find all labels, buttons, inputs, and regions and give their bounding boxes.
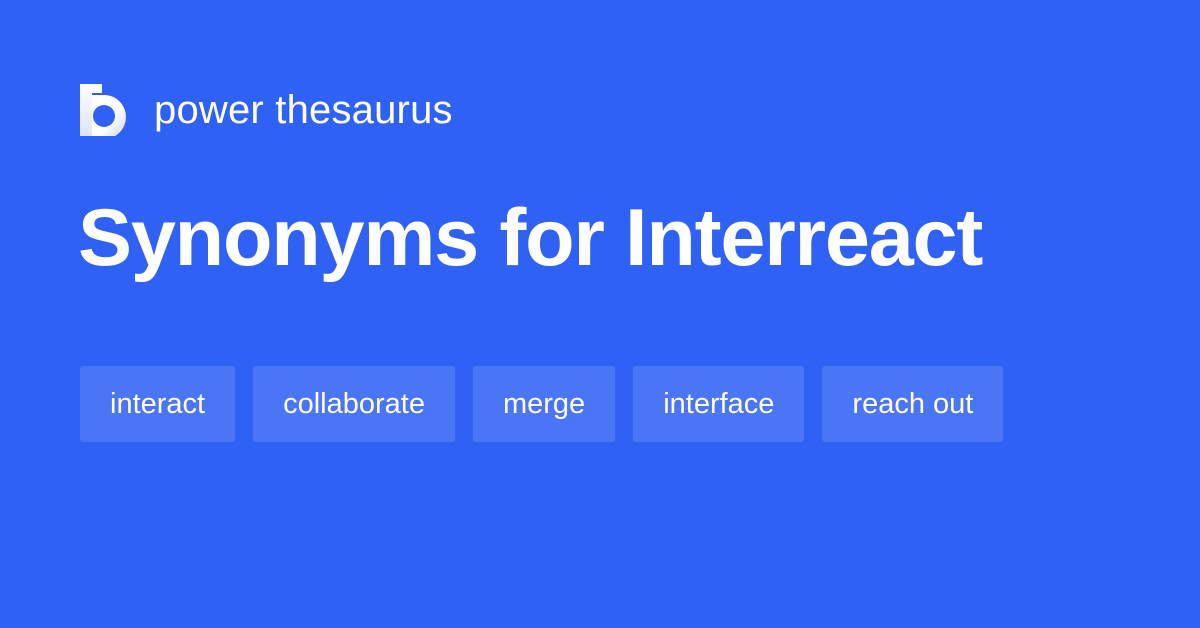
page-title: Synonyms for Interreact <box>78 196 1138 280</box>
power-thesaurus-b-logo-icon <box>80 84 126 136</box>
share-card: power thesaurus Synonyms for Interreact … <box>0 0 1200 628</box>
synonym-chip[interactable]: reach out <box>822 366 1003 442</box>
synonym-chip[interactable]: collaborate <box>253 366 455 442</box>
brand-lockup[interactable]: power thesaurus <box>80 82 453 138</box>
brand-name: power thesaurus <box>154 90 453 130</box>
synonym-chip-list: interact collaborate merge interface rea… <box>80 366 1130 442</box>
synonym-chip[interactable]: merge <box>473 366 615 442</box>
synonym-chip[interactable]: interface <box>633 366 804 442</box>
synonym-chip[interactable]: interact <box>80 366 235 442</box>
